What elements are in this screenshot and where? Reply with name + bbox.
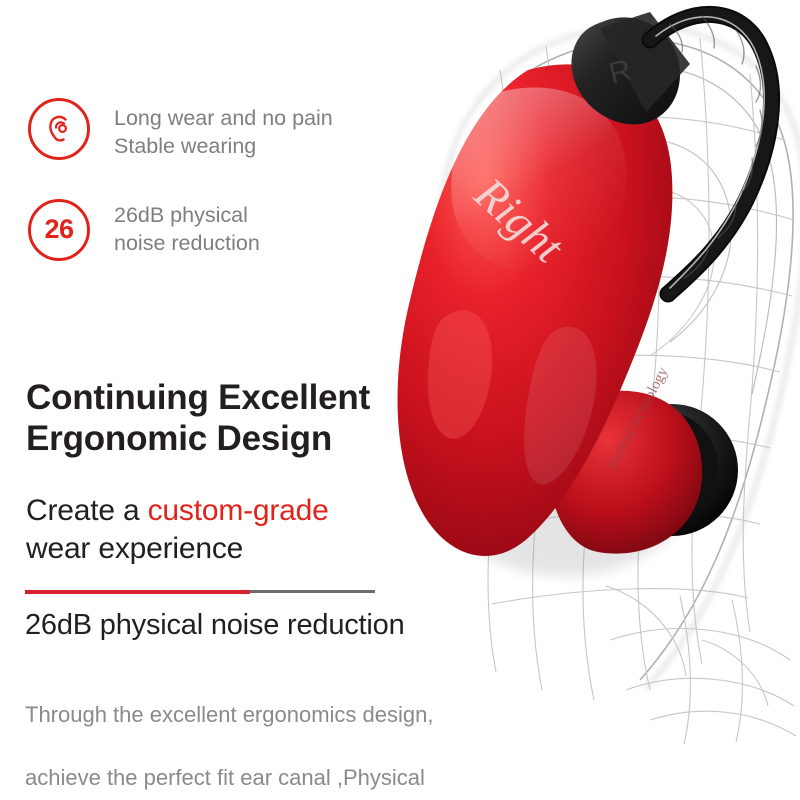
subheading-line2: wear experience — [26, 530, 456, 568]
feature-item: Long wear and no pain Stable wearing — [28, 98, 358, 161]
divider-gray-segment — [250, 590, 375, 593]
page-title: Continuing Excellent Ergonomic Design — [26, 378, 446, 459]
body-line-2: achieve the perfect fit ear canal ,Physi… — [25, 762, 585, 793]
subheading: Create a custom-grade wear experience — [26, 492, 456, 569]
body-copy: Through the excellent ergonomics design,… — [25, 668, 585, 800]
ear-icon — [28, 98, 90, 160]
marketing-slide: Hybrid technology Right R — [0, 0, 800, 800]
divider-red-segment — [25, 590, 250, 594]
subheading-highlight: custom-grade — [148, 494, 329, 527]
subheading-prefix: Create a — [26, 494, 148, 527]
badge-number: 26 — [44, 216, 73, 243]
number-badge-26-icon: 26 — [28, 199, 90, 261]
feature-list: Long wear and no pain Stable wearing 26 … — [28, 98, 358, 299]
feature-item: 26 26dB physical noise reduction — [28, 199, 358, 261]
section-title: 26dB physical noise reduction — [25, 608, 545, 643]
feature-label: 26dB physical noise reduction — [114, 199, 260, 258]
feature-label: Long wear and no pain Stable wearing — [114, 98, 333, 161]
section-divider — [25, 590, 375, 594]
body-line-1: Through the excellent ergonomics design, — [25, 699, 585, 730]
